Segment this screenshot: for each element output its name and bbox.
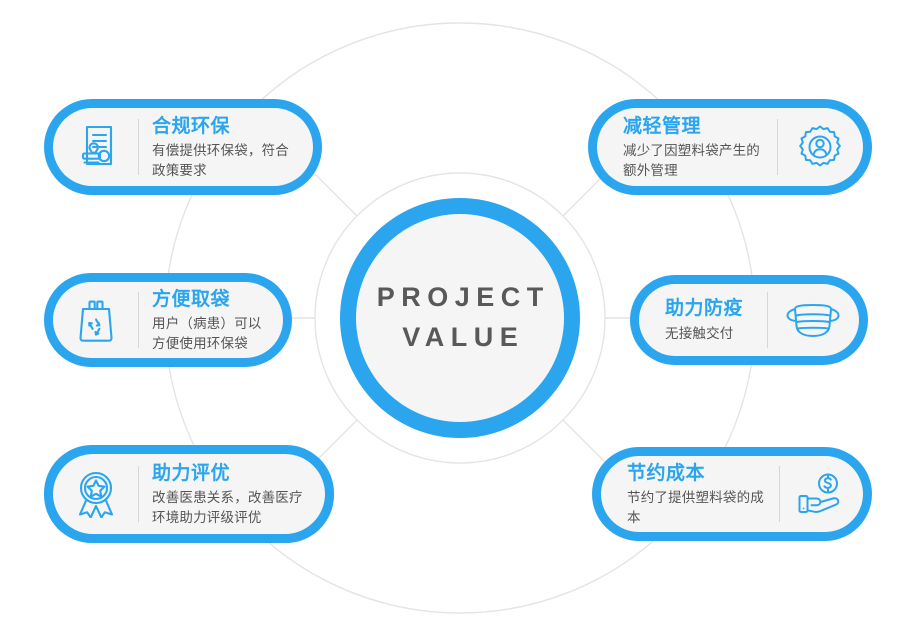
card-divider: [138, 292, 139, 348]
card-rating-title: 助力评优: [152, 461, 311, 487]
center-title-line2: VALUE: [396, 318, 525, 358]
card-management-title: 减轻管理: [623, 114, 764, 140]
card-cost[interactable]: 节约成本 节约了提供塑料袋的成本: [592, 447, 872, 541]
card-rating-desc: 改善医患关系，改善医疗环境助力评级评优: [152, 488, 311, 527]
card-rating-text: 助力评优 改善医患关系，改善医疗环境助力评级评优: [152, 461, 311, 528]
hand-money-icon: [793, 472, 849, 516]
medal-star-icon: [67, 470, 125, 518]
card-epidemic-body: 助力防疫 无接触交付: [639, 284, 859, 356]
card-rating-body: 助力评优 改善医患关系，改善医疗环境助力评级评优: [53, 454, 325, 534]
center-hub: PROJECT VALUE: [340, 198, 580, 438]
recycle-bag-icon: [67, 297, 125, 343]
center-hub-inner: PROJECT VALUE: [356, 214, 564, 422]
card-cost-body: 节约成本 节约了提供塑料袋的成本: [601, 456, 863, 532]
card-divider: [779, 466, 780, 522]
face-mask-icon: [781, 301, 845, 339]
card-convenience-title: 方便取袋: [152, 287, 269, 313]
card-divider: [777, 119, 778, 175]
center-title-line1: PROJECT: [370, 278, 550, 318]
card-compliance-body: 合规环保 有偿提供环保袋，符合政策要求: [53, 108, 313, 186]
gear-user-icon: [791, 124, 849, 170]
card-management-desc: 减少了因塑料袋产生的额外管理: [623, 141, 764, 180]
document-stamp-icon: [67, 124, 125, 170]
card-convenience[interactable]: 方便取袋 用户（病患）可以方便使用环保袋: [44, 273, 292, 367]
card-compliance[interactable]: 合规环保 有偿提供环保袋，符合政策要求: [44, 99, 322, 195]
card-convenience-text: 方便取袋 用户（病患）可以方便使用环保袋: [152, 287, 269, 354]
card-epidemic[interactable]: 助力防疫 无接触交付: [630, 275, 868, 365]
card-convenience-desc: 用户（病患）可以方便使用环保袋: [152, 314, 269, 353]
card-epidemic-title: 助力防疫: [665, 296, 754, 322]
card-rating[interactable]: 助力评优 改善医患关系，改善医疗环境助力评级评优: [44, 445, 334, 543]
card-management-body: 减轻管理 减少了因塑料袋产生的额外管理: [597, 108, 863, 186]
card-convenience-body: 方便取袋 用户（病患）可以方便使用环保袋: [53, 282, 283, 358]
card-divider: [138, 119, 139, 175]
card-cost-desc: 节约了提供塑料袋的成本: [627, 488, 766, 527]
card-epidemic-desc: 无接触交付: [665, 324, 754, 344]
card-compliance-desc: 有偿提供环保袋，符合政策要求: [152, 141, 299, 180]
card-epidemic-text: 助力防疫 无接触交付: [653, 296, 754, 343]
card-divider: [138, 466, 139, 522]
card-management-text: 减轻管理 减少了因塑料袋产生的额外管理: [611, 114, 764, 181]
card-cost-text: 节约成本 节约了提供塑料袋的成本: [615, 461, 766, 528]
card-divider: [767, 292, 768, 348]
card-compliance-text: 合规环保 有偿提供环保袋，符合政策要求: [152, 114, 299, 181]
card-compliance-title: 合规环保: [152, 114, 299, 140]
infographic-canvas: PROJECT VALUE 合规环保: [0, 0, 913, 634]
card-cost-title: 节约成本: [627, 461, 766, 487]
card-management[interactable]: 减轻管理 减少了因塑料袋产生的额外管理: [588, 99, 872, 195]
